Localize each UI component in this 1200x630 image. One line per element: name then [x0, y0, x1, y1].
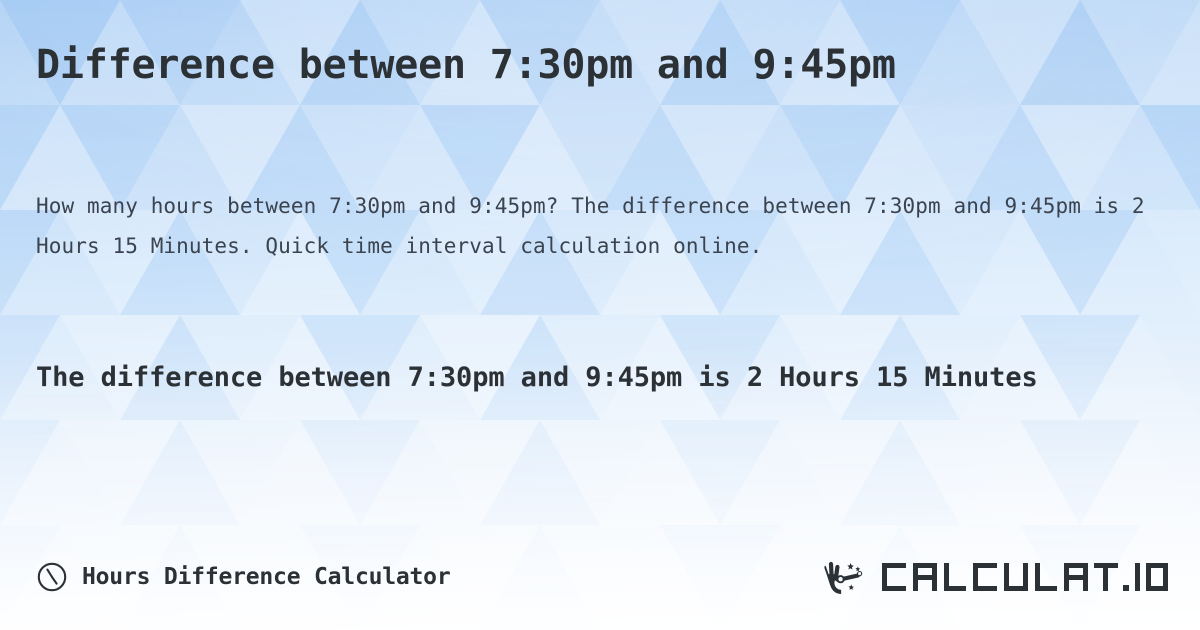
brand-wordmark — [880, 557, 1170, 597]
footer-calculator-label-group: Hours Difference Calculator — [36, 561, 450, 593]
brand-logo[interactable] — [816, 557, 1170, 597]
content-area: Difference between 7:30pm and 9:45pm How… — [0, 0, 1200, 630]
footer-label: Hours Difference Calculator — [82, 564, 450, 590]
magic-wand-hand-icon — [816, 557, 872, 597]
result-statement: The difference between 7:30pm and 9:45pm… — [36, 355, 1141, 400]
page-title: Difference between 7:30pm and 9:45pm — [36, 42, 1164, 88]
clock-icon — [36, 561, 68, 593]
og-image-card: Difference between 7:30pm and 9:45pm How… — [0, 0, 1200, 630]
page-description: How many hours between 7:30pm and 9:45pm… — [36, 186, 1162, 266]
footer: Hours Difference Calculator — [36, 554, 1170, 600]
